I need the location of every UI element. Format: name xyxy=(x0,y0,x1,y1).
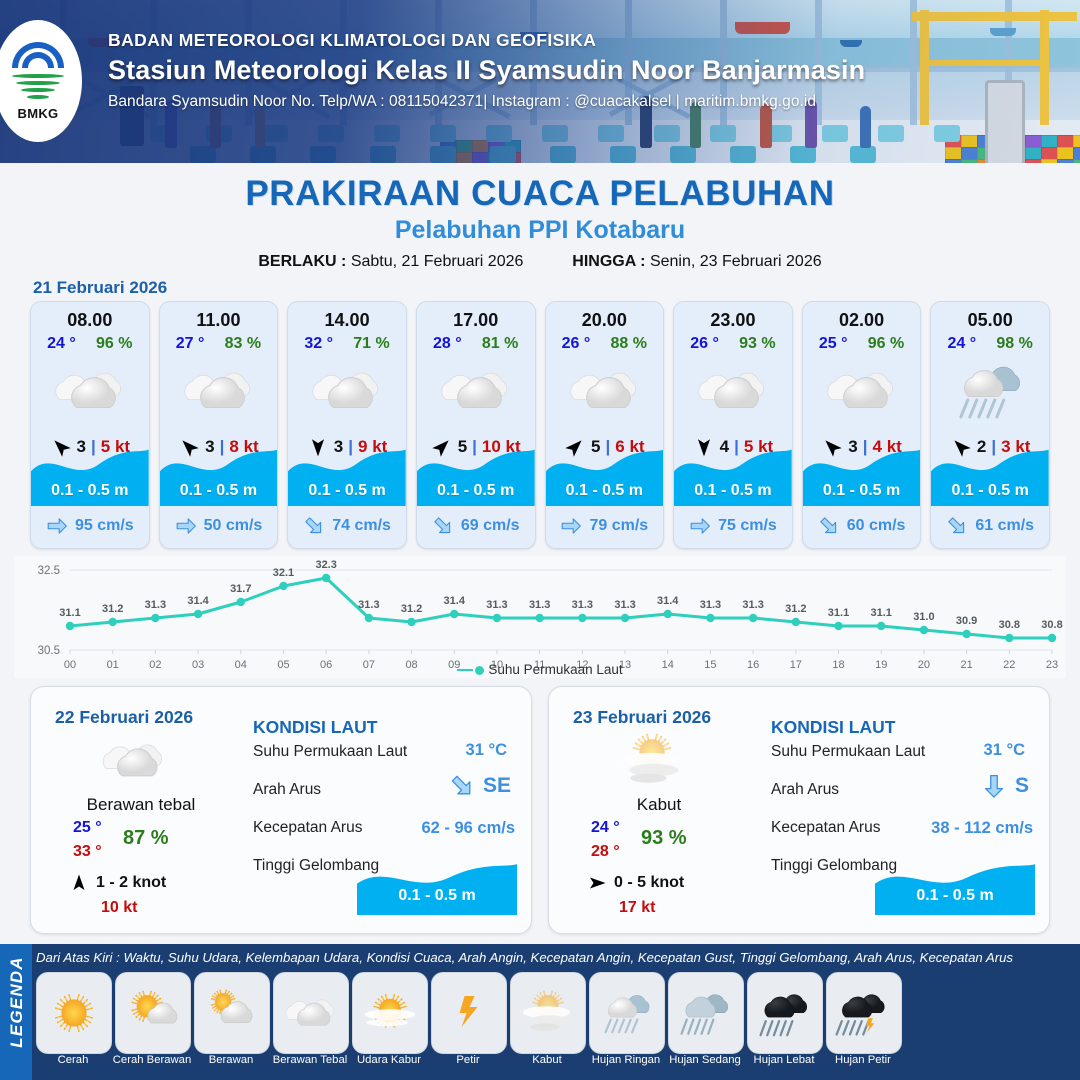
weather-icon-hujan-ringan xyxy=(589,972,665,1054)
svg-text:31.3: 31.3 xyxy=(572,599,593,611)
sst-value: 31 °C xyxy=(984,741,1025,760)
sea-condition-label: Kecepatan Arus xyxy=(253,819,362,836)
sst-value: 31 °C xyxy=(466,741,507,760)
legend-item: Cerah Berawan xyxy=(115,972,189,1076)
card-current: 75 cm/s xyxy=(674,512,792,540)
card-current: 50 cm/s xyxy=(160,512,278,540)
current-direction-arrow-icon xyxy=(981,773,1007,799)
agency-name: BADAN METEOROLOGI KLIMATOLOGI DAN GEOFIS… xyxy=(108,30,1048,51)
weather-icon-berawan-tebal xyxy=(417,360,535,422)
wave-height-value: 0.1 - 0.5 m xyxy=(546,482,664,500)
wave-height-value: 0.1 - 0.5 m xyxy=(875,887,1035,905)
daily-wind-value: 0 - 5 knot xyxy=(614,874,684,892)
svg-text:31.3: 31.3 xyxy=(529,599,550,611)
legend-item: Udara Kabur xyxy=(352,972,426,1076)
page-title: PRAKIRAAN CUACA PELABUHAN xyxy=(0,174,1080,214)
weather-icon-hujan-lebat xyxy=(747,972,823,1054)
legend-item: Hujan Petir xyxy=(826,972,900,1076)
sea-condition-label: Kecepatan Arus xyxy=(771,819,880,836)
card-temperature: 32 ° xyxy=(304,335,333,353)
svg-text:32.5: 32.5 xyxy=(38,565,60,577)
legend-item-label: Kabut xyxy=(504,1054,590,1066)
sea-condition-label: Suhu Permukaan Laut xyxy=(771,743,925,760)
weather-icon-kabut xyxy=(604,733,700,789)
chart-legend: Suhu Permukaan Laut xyxy=(0,662,1080,677)
legend-item-label: Cerah Berawan xyxy=(109,1054,195,1066)
daily-condition: Berawan tebal xyxy=(31,795,251,815)
card-time: 08.00 xyxy=(31,310,149,331)
legend-item: Berawan Tebal xyxy=(273,972,347,1076)
daily-forecast-panel: 23 Februari 2026 Kabut 24 ° 28 ° 93 % 0 … xyxy=(548,686,1050,934)
legend-label: Suhu Permukaan Laut xyxy=(488,662,622,677)
sea-condition-row: Arah Arus xyxy=(253,781,321,819)
legend-side-bar: LEGENDA xyxy=(0,944,32,1080)
card-current: 74 cm/s xyxy=(288,512,406,540)
card-temperature: 24 ° xyxy=(47,335,76,353)
card-humidity: 81 % xyxy=(482,335,518,353)
sea-condition-label: Suhu Permukaan Laut xyxy=(253,743,407,760)
svg-text:31.2: 31.2 xyxy=(401,603,422,615)
legend-item-label: Hujan Lebat xyxy=(741,1054,827,1066)
weather-icon-udara-kabur xyxy=(352,972,428,1054)
current-speed-value: 95 cm/s xyxy=(75,517,134,535)
card-humidity: 98 % xyxy=(996,335,1032,353)
legend-section: LEGENDA Dari Atas Kiri : Waktu, Suhu Uda… xyxy=(0,944,1080,1080)
sea-condition-row: Suhu Permukaan Laut xyxy=(253,743,407,781)
wind-direction-arrow-icon xyxy=(69,873,89,893)
card-time: 02.00 xyxy=(803,310,921,331)
card-current: 60 cm/s xyxy=(803,512,921,540)
current-direction-value: S xyxy=(1015,774,1029,798)
weather-icon-petir xyxy=(431,972,507,1054)
sea-condition-row: Suhu Permukaan Laut xyxy=(771,743,925,781)
legend-item-label: Hujan Petir xyxy=(820,1054,906,1066)
current-speed-value: 50 cm/s xyxy=(204,517,263,535)
card-time: 23.00 xyxy=(674,310,792,331)
legend-item-label: Berawan Tebal xyxy=(267,1054,353,1066)
sea-conditions-title: KONDISI LAUT xyxy=(253,717,377,738)
sea-condition-row: Kecepatan Arus xyxy=(253,819,362,857)
weather-icon-hujan-sedang xyxy=(668,972,744,1054)
legend-item: Kabut xyxy=(510,972,584,1076)
weather-icon-berawan-tebal xyxy=(273,972,349,1054)
card-current: 79 cm/s xyxy=(546,512,664,540)
card-time: 14.00 xyxy=(288,310,406,331)
card-humidity: 93 % xyxy=(739,335,775,353)
card-current: 69 cm/s xyxy=(417,512,535,540)
weather-icon-berawan-tebal xyxy=(674,360,792,422)
legend-side-title: LEGENDA xyxy=(7,943,27,1061)
current-speed-value: 38 - 112 cm/s xyxy=(931,819,1033,838)
weather-icon-berawan xyxy=(194,972,270,1054)
daily-date: 22 Februari 2026 xyxy=(55,707,193,728)
station-name: Stasiun Meteorologi Kelas II Syamsudin N… xyxy=(108,55,1048,86)
card-time: 05.00 xyxy=(931,310,1049,331)
svg-text:31.3: 31.3 xyxy=(700,599,721,611)
valid-from-label: BERLAKU : xyxy=(258,253,346,270)
card-temperature: 26 ° xyxy=(562,335,591,353)
valid-to-label: HINGGA : xyxy=(572,253,645,270)
svg-text:31.3: 31.3 xyxy=(742,599,763,611)
logo-arcs-icon xyxy=(12,42,64,72)
wave-height-value: 0.1 - 0.5 m xyxy=(803,482,921,500)
weather-icon-berawan-tebal xyxy=(31,360,149,422)
legend-item-label: Berawan xyxy=(188,1054,274,1066)
daily-wind: 1 - 2 knot xyxy=(69,873,166,893)
current-direction-value: SE xyxy=(483,774,511,798)
svg-text:31.0: 31.0 xyxy=(913,611,934,623)
hourly-card: 02.00 25 ° 96 % 3 | 4 kt 0.1 - 0.5 m xyxy=(802,301,922,549)
daily-condition: Kabut xyxy=(549,795,769,815)
daily-gust: 17 kt xyxy=(619,899,655,917)
sea-condition-row: Kecepatan Arus xyxy=(771,819,880,857)
card-humidity: 83 % xyxy=(225,335,261,353)
page-header: BMKG BADAN METEOROLOGI KLIMATOLOGI DAN G… xyxy=(0,0,1080,163)
current-speed-value: 79 cm/s xyxy=(589,517,648,535)
card-temperature: 27 ° xyxy=(176,335,205,353)
svg-text:31.2: 31.2 xyxy=(785,603,806,615)
hourly-card: 14.00 32 ° 71 % 3 | 9 kt 0.1 - 0.5 m xyxy=(287,301,407,549)
svg-text:31.1: 31.1 xyxy=(59,607,80,619)
hourly-card: 17.00 28 ° 81 % 5 | 10 kt 0.1 - 0.5 m xyxy=(416,301,536,549)
current-speed-value: 75 cm/s xyxy=(718,517,777,535)
svg-text:32.1: 32.1 xyxy=(273,567,294,579)
hourly-card: 05.00 24 ° 98 % 2 | 3 kt 0.1 - 0.5 m xyxy=(930,301,1050,549)
weather-icon-cerah-berawan xyxy=(115,972,191,1054)
logo-text: BMKG xyxy=(8,106,68,121)
svg-text:30.5: 30.5 xyxy=(38,645,60,657)
sea-condition-row: Arah Arus xyxy=(771,781,839,819)
current-direction-arrow-icon xyxy=(560,515,582,537)
card-humidity: 71 % xyxy=(353,335,389,353)
legend-note: Dari Atas Kiri : Waktu, Suhu Udara, Kele… xyxy=(36,950,1076,965)
card-temperature: 24 ° xyxy=(948,335,977,353)
svg-text:31.3: 31.3 xyxy=(145,599,166,611)
svg-text:30.8: 30.8 xyxy=(999,619,1020,631)
contact-info: Bandara Syamsudin Noor No. Telp/WA : 081… xyxy=(108,93,1048,111)
weather-icon-berawan-tebal xyxy=(288,360,406,422)
legend-line-icon xyxy=(457,669,473,671)
wave-height-value: 0.1 - 0.5 m xyxy=(160,482,278,500)
sst-chart: 30.532.500010203040506070809101112131415… xyxy=(14,556,1066,678)
card-current: 61 cm/s xyxy=(931,512,1049,540)
legend-item: Cerah xyxy=(36,972,110,1076)
daily-temp-max: 33 ° xyxy=(73,843,102,861)
logo-waves-icon xyxy=(12,74,64,104)
wave-height-value: 0.1 - 0.5 m xyxy=(417,482,535,500)
weather-icon-berawan-tebal xyxy=(803,360,921,422)
legend-item: Petir xyxy=(431,972,505,1076)
daily-humidity: 93 % xyxy=(641,827,687,850)
current-direction-arrow-icon xyxy=(689,515,711,537)
legend-item-label: Petir xyxy=(425,1054,511,1066)
current-direction-group: S xyxy=(981,773,1029,799)
validity-row: BERLAKU : Sabtu, 21 Februari 2026 HINGGA… xyxy=(0,253,1080,271)
daily-temp-max: 28 ° xyxy=(591,843,620,861)
current-direction-arrow-icon xyxy=(175,515,197,537)
legend-item: Hujan Ringan xyxy=(589,972,663,1076)
current-speed-value: 69 cm/s xyxy=(461,517,520,535)
weather-icon-cerah xyxy=(36,972,112,1054)
daily-date: 23 Februari 2026 xyxy=(573,707,711,728)
sea-condition-label: Arah Arus xyxy=(771,781,839,798)
legend-item: Berawan xyxy=(194,972,268,1076)
card-humidity: 96 % xyxy=(868,335,904,353)
current-speed-value: 60 cm/s xyxy=(847,517,906,535)
hourly-card: 11.00 27 ° 83 % 3 | 8 kt 0.1 - 0.5 m xyxy=(159,301,279,549)
daily-gust: 10 kt xyxy=(101,899,137,917)
weather-icon-berawan-tebal xyxy=(86,733,182,789)
card-time: 20.00 xyxy=(546,310,664,331)
hourly-card: 20.00 26 ° 88 % 5 | 6 kt 0.1 - 0.5 m xyxy=(545,301,665,549)
current-direction-arrow-icon xyxy=(818,515,840,537)
svg-text:31.7: 31.7 xyxy=(230,583,251,595)
daily-temp-min: 25 ° xyxy=(73,819,102,837)
legend-items: Cerah Cerah Berawan Berawan Berawan Teba… xyxy=(36,972,1076,1076)
card-time: 11.00 xyxy=(160,310,278,331)
wave-height-value: 0.1 - 0.5 m xyxy=(288,482,406,500)
card-humidity: 88 % xyxy=(611,335,647,353)
svg-text:31.1: 31.1 xyxy=(828,607,849,619)
valid-from-value: Sabtu, 21 Februari 2026 xyxy=(351,253,524,270)
sea-condition-label: Arah Arus xyxy=(253,781,321,798)
weather-icon-berawan-tebal xyxy=(160,360,278,422)
hourly-day-label: 21 Februari 2026 xyxy=(33,278,167,298)
hourly-card: 08.00 24 ° 96 % 3 | 5 kt 0.1 - 0.5 m xyxy=(30,301,150,549)
current-speed-value: 62 - 96 cm/s xyxy=(421,819,515,838)
svg-text:31.3: 31.3 xyxy=(614,599,635,611)
wave-height-value: 0.1 - 0.5 m xyxy=(674,482,792,500)
svg-text:31.4: 31.4 xyxy=(657,595,679,607)
current-speed-value: 74 cm/s xyxy=(332,517,391,535)
svg-text:31.1: 31.1 xyxy=(871,607,892,619)
wave-height-value: 0.1 - 0.5 m xyxy=(357,887,517,905)
valid-to-value: Senin, 23 Februari 2026 xyxy=(650,253,822,270)
svg-text:30.9: 30.9 xyxy=(956,615,977,627)
wind-direction-arrow-icon xyxy=(587,873,607,893)
svg-text:30.8: 30.8 xyxy=(1041,619,1062,631)
daily-wind-value: 1 - 2 knot xyxy=(96,874,166,892)
svg-text:32.3: 32.3 xyxy=(315,559,336,571)
daily-forecast-panel: 22 Februari 2026 Berawan tebal 25 ° 33 °… xyxy=(30,686,532,934)
legend-item: Hujan Sedang xyxy=(668,972,742,1076)
page-subtitle: Pelabuhan PPI Kotabaru xyxy=(0,216,1080,245)
weather-icon-kabut xyxy=(510,972,586,1054)
card-temperature: 28 ° xyxy=(433,335,462,353)
svg-text:31.4: 31.4 xyxy=(444,595,466,607)
current-direction-arrow-icon xyxy=(303,515,325,537)
legend-item-label: Hujan Sedang xyxy=(662,1054,748,1066)
daily-temp-min: 24 ° xyxy=(591,819,620,837)
svg-text:31.2: 31.2 xyxy=(102,603,123,615)
svg-text:31.4: 31.4 xyxy=(187,595,209,607)
svg-text:31.3: 31.3 xyxy=(486,599,507,611)
current-direction-arrow-icon xyxy=(46,515,68,537)
daily-forecast-row: 22 Februari 2026 Berawan tebal 25 ° 33 °… xyxy=(30,686,1050,932)
current-direction-arrow-icon xyxy=(946,515,968,537)
card-temperature: 25 ° xyxy=(819,335,848,353)
legend-item-label: Udara Kabur xyxy=(346,1054,432,1066)
legend-dot-icon xyxy=(475,666,484,675)
sea-conditions-title: KONDISI LAUT xyxy=(771,717,895,738)
weather-icon-hujan-petir xyxy=(826,972,902,1054)
legend-item-label: Hujan Ringan xyxy=(583,1054,669,1066)
legend-item: Hujan Lebat xyxy=(747,972,821,1076)
weather-icon-berawan-tebal xyxy=(546,360,664,422)
hourly-forecast-row: 08.00 24 ° 96 % 3 | 5 kt 0.1 - 0.5 m xyxy=(30,301,1050,547)
current-direction-group: SE xyxy=(449,773,511,799)
weather-icon-hujan-ringan xyxy=(931,360,1049,422)
wave-height-value: 0.1 - 0.5 m xyxy=(31,482,149,500)
hourly-card: 23.00 26 ° 93 % 4 | 5 kt 0.1 - 0.5 m xyxy=(673,301,793,549)
card-current: 95 cm/s xyxy=(31,512,149,540)
card-time: 17.00 xyxy=(417,310,535,331)
current-direction-arrow-icon xyxy=(432,515,454,537)
daily-humidity: 87 % xyxy=(123,827,169,850)
current-direction-arrow-icon xyxy=(449,773,475,799)
card-humidity: 96 % xyxy=(96,335,132,353)
svg-text:31.3: 31.3 xyxy=(358,599,379,611)
wave-height-value: 0.1 - 0.5 m xyxy=(931,482,1049,500)
legend-item-label: Cerah xyxy=(30,1054,116,1066)
current-speed-value: 61 cm/s xyxy=(975,517,1034,535)
card-temperature: 26 ° xyxy=(690,335,719,353)
daily-wind: 0 - 5 knot xyxy=(587,873,684,893)
